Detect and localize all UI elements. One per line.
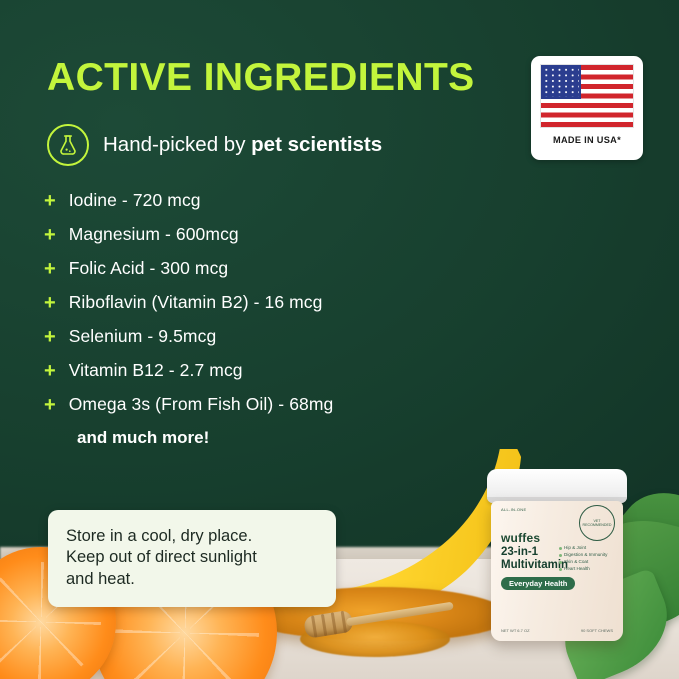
plus-icon: + (44, 259, 56, 279)
list-item: + Vitamin B12 - 2.7 mcg (44, 360, 333, 381)
list-item: + Iodine - 720 mcg (44, 190, 333, 211)
plus-icon: + (44, 361, 56, 381)
ingredient-label: Omega 3s (From Fish Oil) - 68mg (69, 394, 334, 415)
made-in-usa-badge: MADE IN USA* (531, 56, 643, 160)
poster-canvas: ACTIVE INGREDIENTS Hand-picked by pet sc… (0, 0, 679, 679)
storage-note-card: Store in a cool, dry place. Keep out of … (48, 510, 336, 607)
jar-benefit-item: Digestion & Immunity (559, 552, 615, 559)
ingredient-label: Selenium - 9.5mcg (69, 326, 217, 347)
jar-benefit-label: Hip & Joint (564, 545, 586, 552)
list-item: + Selenium - 9.5mcg (44, 326, 333, 347)
jar-benefits: Hip & Joint Digestion & Immunity Skin & … (559, 545, 615, 573)
plus-icon: + (44, 395, 56, 415)
jar-brand: wuffes (501, 531, 540, 545)
plus-icon: + (44, 327, 56, 347)
jar-lid (487, 469, 627, 503)
list-item: + Folic Acid - 300 mcg (44, 258, 333, 279)
storage-note-line3: and heat. (66, 569, 318, 591)
plus-icon: + (44, 191, 56, 211)
flask-icon (47, 124, 89, 166)
bullet-dot-icon (559, 561, 562, 564)
ingredient-label: Folic Acid - 300 mcg (69, 258, 229, 279)
usa-flag-icon (540, 64, 634, 128)
bullet-dot-icon (559, 554, 562, 557)
page-title: ACTIVE INGREDIENTS (47, 56, 475, 100)
ingredient-list: + Iodine - 720 mcg + Magnesium - 600mcg … (44, 190, 333, 448)
flag-stars (543, 67, 579, 97)
jar-count: 90 SOFT CHEWS (581, 628, 613, 633)
jar-benefit-label: Skin & Coat (564, 559, 588, 566)
bullet-dot-icon (559, 547, 562, 550)
jar-net-weight: NET WT 6.7 OZ (501, 628, 530, 633)
jar-benefit-label: Heart Health (564, 566, 590, 573)
list-item: + Riboflavin (Vitamin B2) - 16 mcg (44, 292, 333, 313)
bullet-dot-icon (559, 568, 562, 571)
jar-pill-badge: Everyday Health (501, 577, 575, 590)
flag-canton (541, 65, 581, 99)
plus-icon: + (44, 225, 56, 245)
storage-note-line1: Store in a cool, dry place. (66, 526, 318, 548)
product-jar: ALL-IN-ONE VET RECOMMENDED wuffes 23-in-… (487, 469, 627, 645)
jar-benefit-item: Heart Health (559, 566, 615, 573)
list-item: + Omega 3s (From Fish Oil) - 68mg (44, 394, 333, 415)
badge-label: MADE IN USA* (553, 135, 621, 145)
vet-seal-icon: VET RECOMMENDED (579, 505, 615, 541)
storage-note-line2: Keep out of direct sunlight (66, 547, 318, 569)
list-item: + Magnesium - 600mcg (44, 224, 333, 245)
ingredient-label: Magnesium - 600mcg (69, 224, 239, 245)
ingredient-label: Vitamin B12 - 2.7 mcg (69, 360, 243, 381)
jar-benefit-item: Hip & Joint (559, 545, 615, 552)
jar-benefit-label: Digestion & Immunity (564, 552, 607, 559)
jar-benefit-item: Skin & Coat (559, 559, 615, 566)
plus-icon: + (44, 293, 56, 313)
jar-footer: NET WT 6.7 OZ 90 SOFT CHEWS (501, 628, 613, 633)
and-much-more-label: and much more! (77, 428, 333, 448)
subheadline-emphasis: pet scientists (251, 133, 382, 156)
ingredient-label: Iodine - 720 mcg (69, 190, 201, 211)
subheadline-text: Hand-picked by pet scientists (103, 133, 382, 157)
jar-brand-small: ALL-IN-ONE (501, 507, 526, 512)
jar-label: ALL-IN-ONE VET RECOMMENDED wuffes 23-in-… (491, 501, 623, 641)
subheadline: Hand-picked by pet scientists (47, 124, 382, 166)
subheadline-prefix: Hand-picked by (103, 133, 251, 156)
ingredient-label: Riboflavin (Vitamin B2) - 16 mcg (69, 292, 323, 313)
